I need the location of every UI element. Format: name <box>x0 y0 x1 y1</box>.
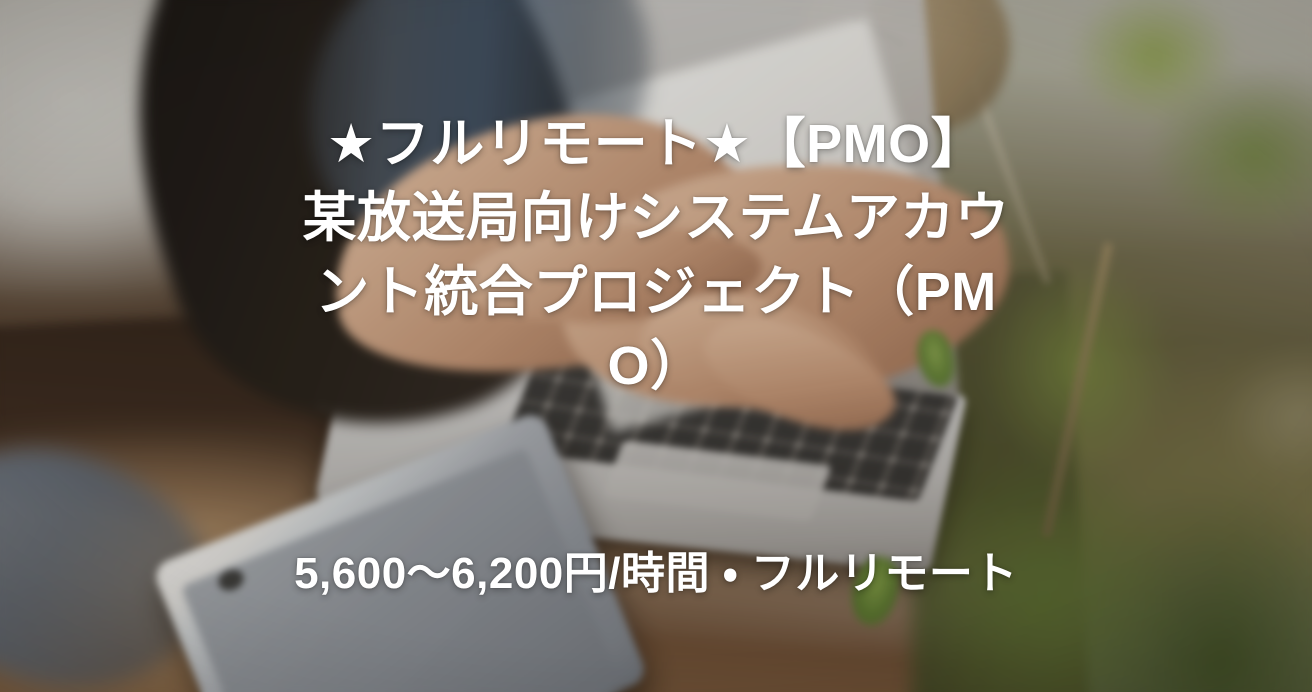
banner-subline: 5,600〜6,200円/時間 ・ フルリモート <box>0 548 1312 601</box>
job-posting-hero-banner: ★フルリモート★【PMO】 某放送局向けシステムアカウ ント統合プロジェクト（P… <box>0 0 1312 692</box>
